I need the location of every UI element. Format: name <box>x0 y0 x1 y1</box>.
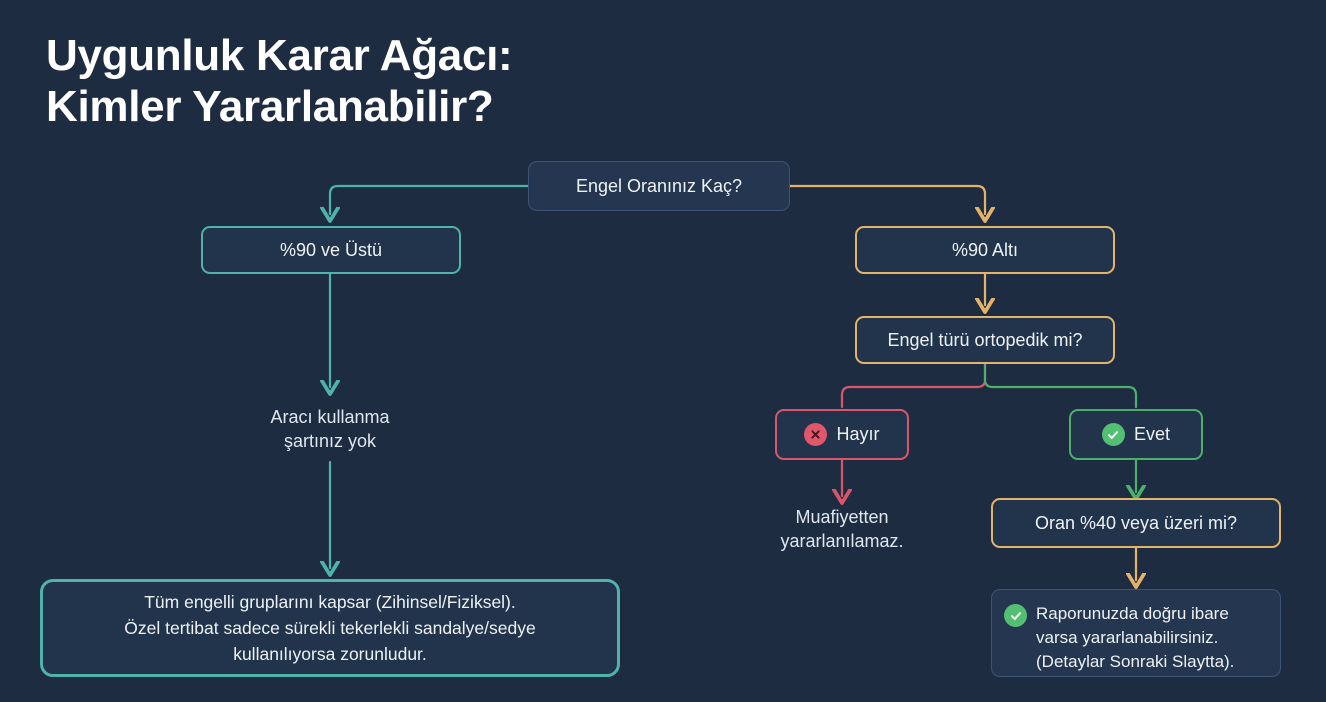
node-right-branch-label: %90 Altı <box>952 240 1018 261</box>
node-right-question-label: Engel türü ortopedik mi? <box>887 330 1082 351</box>
node-yes-result[interactable]: Raporunuzda doğru ibare varsa yararlanab… <box>991 589 1281 677</box>
edge-root-to-right-branch <box>790 186 985 214</box>
node-left-note: Aracı kullanma şartınız yok <box>215 405 445 454</box>
decision-tree-canvas: Uygunluk Karar Ağacı: Kimler Yararlanabi… <box>0 0 1326 702</box>
node-answer-yes[interactable]: Evet <box>1069 409 1203 460</box>
edge-root-to-left-branch <box>330 186 528 214</box>
node-left-branch[interactable]: %90 ve Üstü <box>201 226 461 274</box>
node-root[interactable]: Engel Oranınız Kaç? <box>528 161 790 211</box>
node-answer-no-label: Hayır <box>836 424 879 445</box>
check-circle-icon <box>1102 423 1125 446</box>
node-ratio-question-label: Oran %40 veya üzeri mi? <box>1035 513 1237 534</box>
node-ratio-question[interactable]: Oran %40 veya üzeri mi? <box>991 498 1281 548</box>
node-answer-no[interactable]: Hayır <box>775 409 909 460</box>
node-answer-yes-label: Evet <box>1134 424 1170 445</box>
node-left-branch-label: %90 ve Üstü <box>280 240 382 261</box>
node-right-branch[interactable]: %90 Altı <box>855 226 1115 274</box>
edge-question-to-yes <box>985 364 1136 407</box>
node-no-result: Muafiyetten yararlanılamaz. <box>737 505 947 554</box>
node-left-result-label: Tüm engelli gruplarını kapsar (Zihinsel/… <box>124 589 535 668</box>
check-circle-icon <box>1004 604 1027 627</box>
edge-question-to-no <box>842 364 985 407</box>
node-left-result[interactable]: Tüm engelli gruplarını kapsar (Zihinsel/… <box>40 579 620 677</box>
page-title: Uygunluk Karar Ağacı: Kimler Yararlanabi… <box>46 30 512 132</box>
node-root-label: Engel Oranınız Kaç? <box>576 176 742 197</box>
node-right-question[interactable]: Engel türü ortopedik mi? <box>855 316 1115 364</box>
x-circle-icon <box>804 423 827 446</box>
node-yes-result-label: Raporunuzda doğru ibare varsa yararlanab… <box>1036 602 1234 674</box>
